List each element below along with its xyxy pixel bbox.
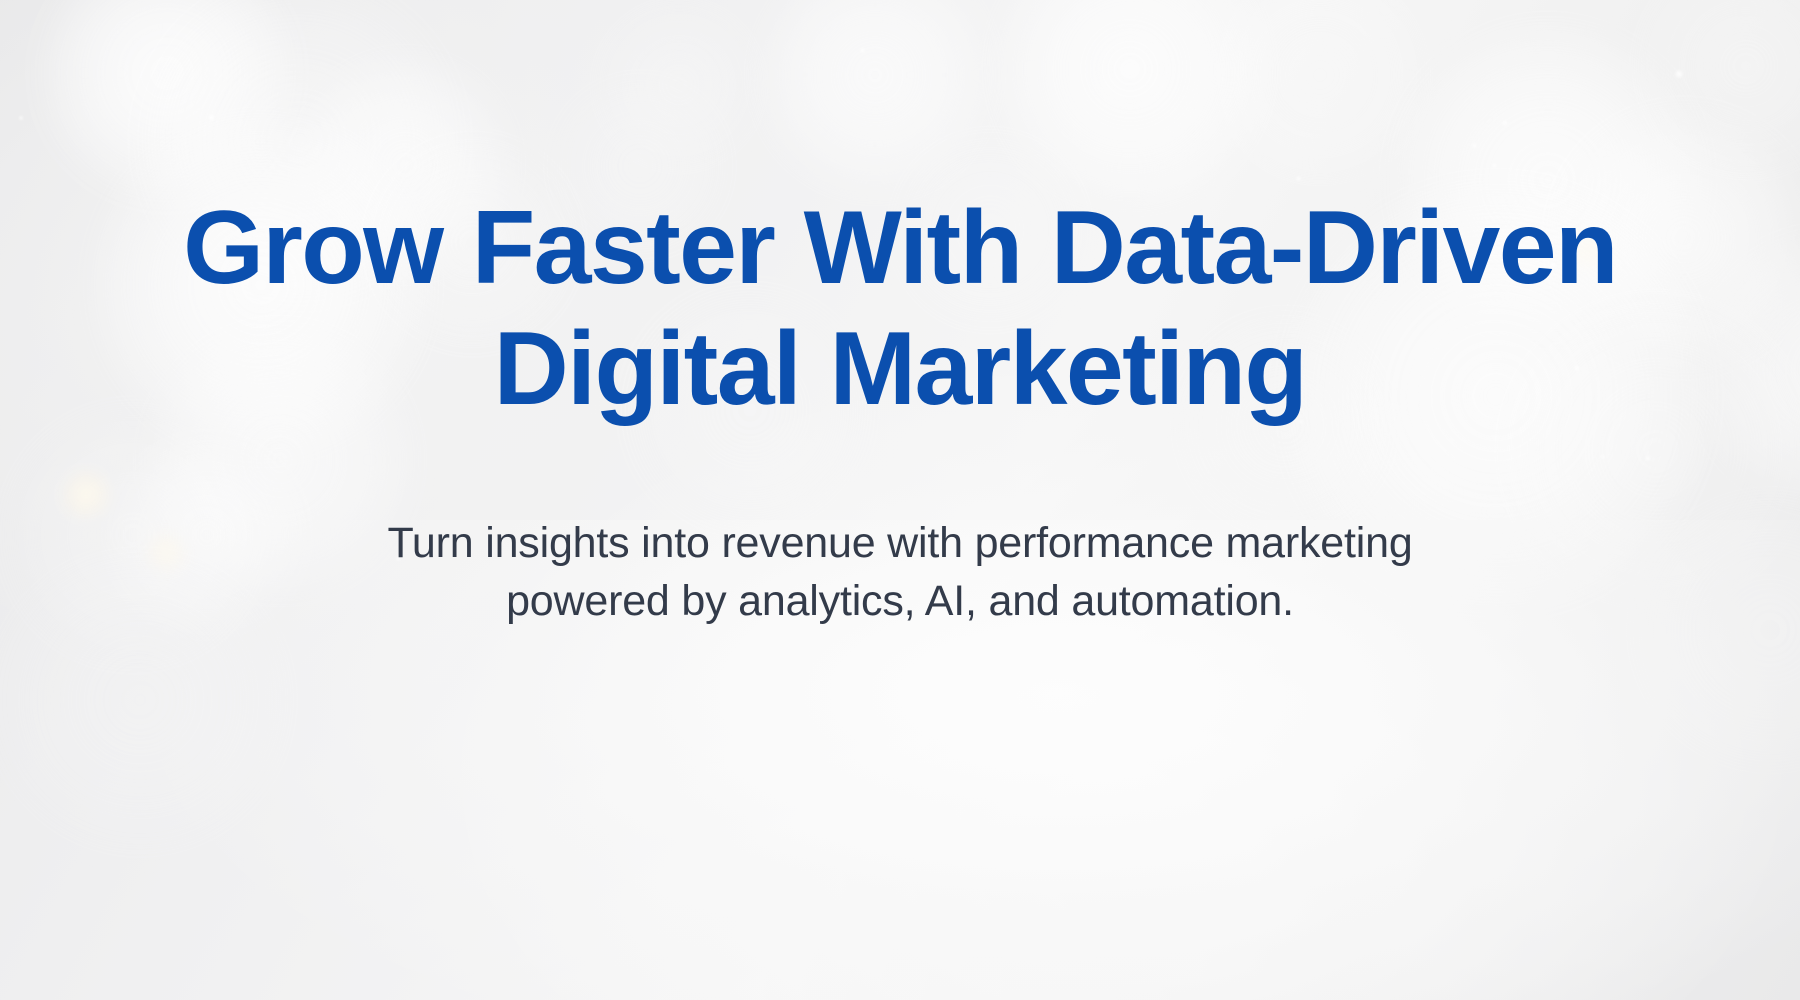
page-subtitle: Turn insights into revenue with performa… bbox=[310, 515, 1490, 630]
hero-content: Grow Faster With Data-Driven Digital Mar… bbox=[0, 0, 1800, 1000]
page-title: Grow Faster With Data-Driven Digital Mar… bbox=[120, 188, 1680, 429]
hero-section: Grow Faster With Data-Driven Digital Mar… bbox=[0, 0, 1800, 1000]
